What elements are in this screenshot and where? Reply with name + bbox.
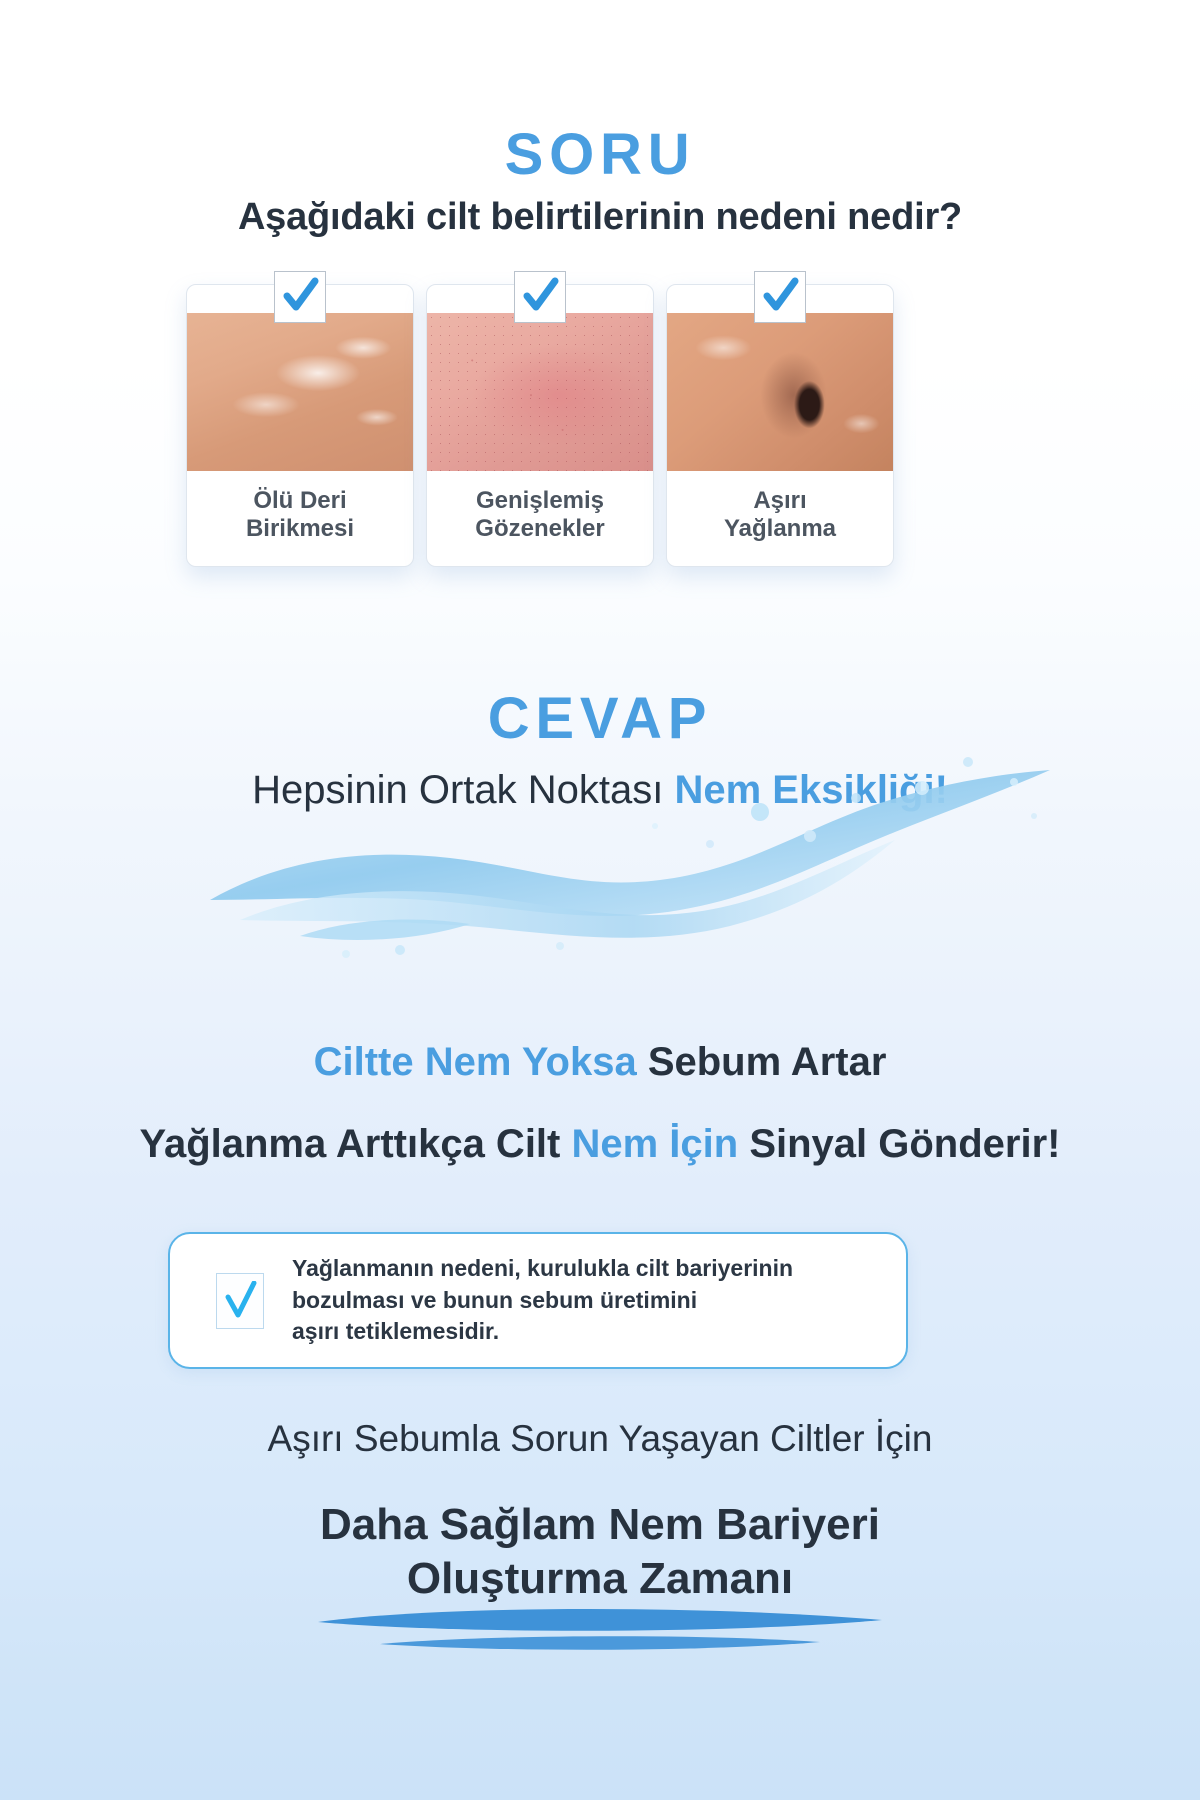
symptom-card[interactable]: Ölü Deri Birikmesi (186, 284, 414, 567)
common-point-highlight: Nem Eksikliği! (674, 768, 947, 812)
closing-headline: Daha Sağlam Nem Bariyeri Oluşturma Zaman… (0, 1498, 1200, 1605)
oily-nose-skin-photo (667, 313, 893, 471)
infographic-page: SORU Aşağıdaki cilt belirtilerinin neden… (0, 0, 1200, 1800)
symptom-card[interactable]: Aşırı Yağlanma (666, 284, 894, 567)
symptom-card-label: Aşırı Yağlanma (667, 471, 893, 566)
flaking-dry-skin-photo (187, 313, 413, 471)
question-text: Aşağıdaki cilt belirtilerinin nedeni ned… (0, 196, 1200, 239)
callout-text: Yağlanmanın nedeni, kurulukla cilt bariy… (292, 1253, 793, 1348)
statement-2-highlight: Nem İçin (571, 1122, 738, 1166)
statement-line-2: Yağlanma Arttıkça Cilt Nem İçin Sinyal G… (0, 1122, 1200, 1167)
soru-section-heading: SORU (0, 126, 1200, 184)
symptom-card-label: Genişlemiş Gözenekler (427, 471, 653, 566)
statement-1-suffix: Sebum Artar (637, 1040, 887, 1084)
check-mark-icon[interactable] (514, 271, 566, 323)
statement-1-highlight: Ciltte Nem Yoksa (314, 1040, 637, 1084)
statement-2-suffix: Sinyal Gönderir! (738, 1122, 1060, 1166)
statement-2-prefix: Yağlanma Arttıkça Cilt (139, 1122, 571, 1166)
check-mark-icon (216, 1273, 264, 1329)
symptom-card[interactable]: Genişlemiş Gözenekler (426, 284, 654, 567)
explanation-callout: Yağlanmanın nedeni, kurulukla cilt bariy… (168, 1232, 908, 1369)
brush-stroke-underline (300, 1600, 900, 1660)
symptom-card-label: Ölü Deri Birikmesi (187, 471, 413, 566)
closing-lead-text: Aşırı Sebumla Sorun Yaşayan Ciltler İçin (0, 1418, 1200, 1460)
enlarged-pores-skin-photo (427, 313, 653, 471)
check-mark-icon[interactable] (274, 271, 326, 323)
statement-line-1: Ciltte Nem Yoksa Sebum Artar (0, 1040, 1200, 1085)
common-point-prefix: Hepsinin Ortak Noktası (252, 768, 674, 812)
symptom-card-row: Ölü Deri Birikmesi Genişlemiş Gözenekler… (186, 284, 1014, 567)
common-point-line: Hepsinin Ortak Noktası Nem Eksikliği! (0, 768, 1200, 813)
check-mark-icon[interactable] (754, 271, 806, 323)
cevap-section-heading: CEVAP (0, 690, 1200, 748)
